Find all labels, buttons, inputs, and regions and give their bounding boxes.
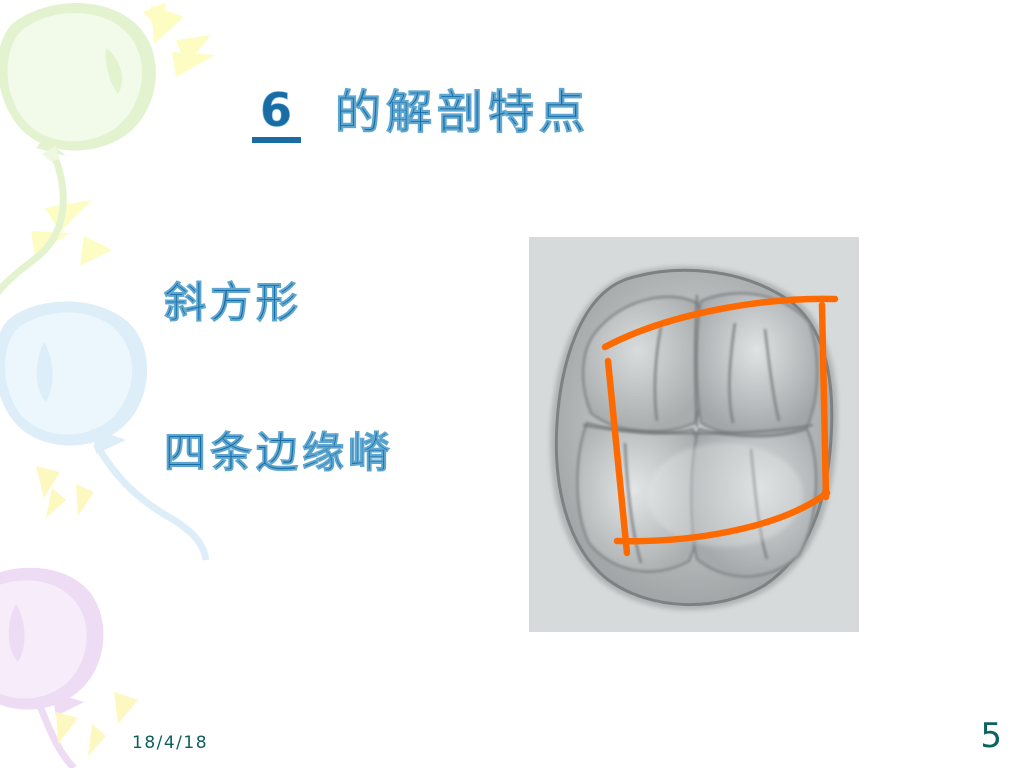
molar-occlusal-photo bbox=[529, 237, 859, 632]
presentation-slide: 6 的解剖特点 斜方形 四条边缘嵴 bbox=[0, 0, 1024, 768]
tooth-number-badge: 6 bbox=[252, 86, 301, 143]
bullet-line-marginal-ridges: 四条边缘嵴 bbox=[164, 428, 394, 478]
right-marginal-ridge-line bbox=[822, 305, 826, 497]
tooth-number-value: 6 bbox=[252, 86, 301, 134]
page-title: 的解剖特点 bbox=[335, 86, 590, 138]
tooth-number-underline bbox=[252, 137, 301, 143]
slide-title: 6 的解剖特点 bbox=[252, 86, 590, 143]
page-number: 5 bbox=[980, 718, 1002, 754]
footer-date: 18/4/18 bbox=[132, 733, 208, 753]
balloon-green bbox=[0, 3, 156, 306]
balloon-purple bbox=[0, 568, 138, 768]
bullet-line-shape: 斜方形 bbox=[164, 278, 302, 328]
ray-group-top bbox=[31, 2, 215, 266]
